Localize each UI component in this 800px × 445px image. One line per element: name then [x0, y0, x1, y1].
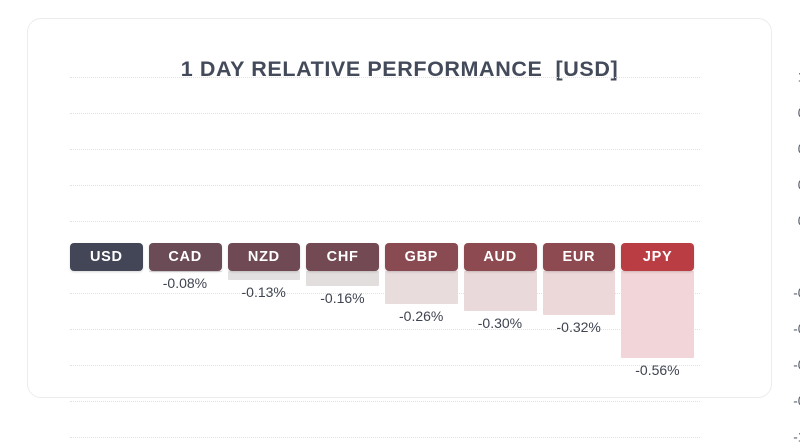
- bar-group-nzd[interactable]: NZD: [228, 105, 301, 381]
- bar-group-aud[interactable]: AUD: [464, 105, 537, 381]
- y-axis-tick-label: -0.40%: [750, 322, 800, 337]
- value-label-eur: -0.32%: [557, 319, 601, 335]
- currency-label-nzd[interactable]: NZD: [228, 243, 301, 271]
- currency-label-gbp[interactable]: GBP: [385, 243, 458, 271]
- currency-label-jpy[interactable]: JPY: [621, 243, 694, 271]
- chart-card: 1 DAY RELATIVE PERFORMANCE [USD] 1.00%0.…: [27, 18, 772, 398]
- y-axis-tick-label: 0.40%: [750, 178, 800, 193]
- gridline: [70, 77, 700, 78]
- currency-label-eur[interactable]: EUR: [543, 243, 616, 271]
- y-axis-tick-label: 0.80%: [750, 106, 800, 121]
- bar-aud[interactable]: [464, 271, 537, 311]
- bar-jpy[interactable]: [621, 271, 694, 358]
- y-axis-tick-label: 0.20%: [750, 214, 800, 229]
- bar-group-eur[interactable]: EUR: [543, 105, 616, 381]
- y-axis-tick-label: -0.60%: [750, 358, 800, 373]
- bar-chf[interactable]: [306, 271, 379, 286]
- y-axis-tick-label: -0.80%: [750, 394, 800, 409]
- value-label-chf: -0.16%: [320, 290, 364, 306]
- value-label-nzd: -0.13%: [242, 284, 286, 300]
- bar-group-jpy[interactable]: JPY: [621, 105, 694, 381]
- page-title: 1 DAY RELATIVE PERFORMANCE [USD]: [28, 57, 771, 82]
- y-axis-tick-label: 0.60%: [750, 142, 800, 157]
- chart-plot-area: 1.00%0.80%0.60%0.40%0.20%-0.20%-0.40%-0.…: [70, 105, 700, 381]
- value-label-jpy: -0.56%: [635, 362, 679, 378]
- gridline: [70, 401, 700, 402]
- bar-group-usd[interactable]: USD: [70, 105, 143, 381]
- currency-label-cad[interactable]: CAD: [149, 243, 222, 271]
- y-axis-tick-label: -0.20%: [750, 286, 800, 301]
- bar-nzd[interactable]: [228, 271, 301, 280]
- bar-group-gbp[interactable]: GBP: [385, 105, 458, 381]
- gridline: [70, 437, 700, 438]
- value-label-gbp: -0.26%: [399, 308, 443, 324]
- currency-label-aud[interactable]: AUD: [464, 243, 537, 271]
- bar-group-chf[interactable]: CHF: [306, 105, 379, 381]
- bar-gbp[interactable]: [385, 271, 458, 304]
- bar-eur[interactable]: [543, 271, 616, 315]
- y-axis-tick-label: -1.00%: [750, 430, 800, 445]
- bar-group-cad[interactable]: CAD: [149, 105, 222, 381]
- currency-label-chf[interactable]: CHF: [306, 243, 379, 271]
- value-label-cad: -0.08%: [163, 275, 207, 291]
- value-label-aud: -0.30%: [478, 315, 522, 331]
- y-axis-tick-label: 1.00%: [750, 70, 800, 85]
- currency-label-usd[interactable]: USD: [70, 243, 143, 271]
